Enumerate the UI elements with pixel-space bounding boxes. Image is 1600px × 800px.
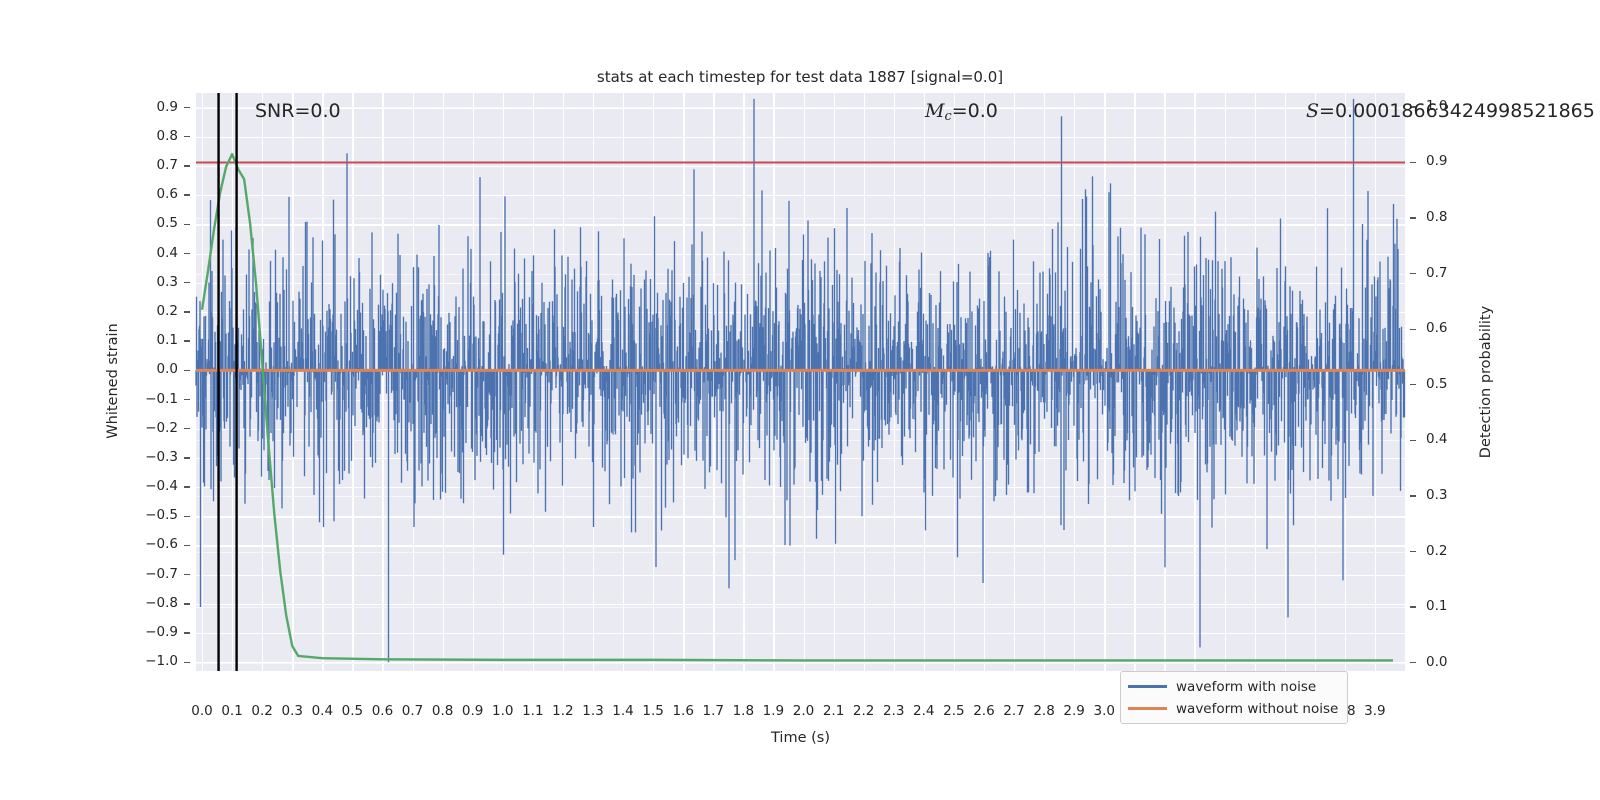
s-value: =0.00018663424998521865 (1319, 100, 1595, 122)
y-tick-mark-left (184, 662, 190, 663)
y-tick-mark-left (184, 282, 190, 283)
y-tick-label-left: 0.3 (130, 274, 178, 290)
y-tick-label-right: 0.6 (1426, 320, 1466, 336)
y-tick-mark-left (184, 165, 190, 166)
y-tick-mark-left (184, 311, 190, 312)
y-tick-mark-right (1410, 217, 1416, 218)
y-tick-mark-right (1410, 162, 1416, 163)
y-tick-mark-right (1410, 384, 1416, 385)
legend-label-waveform-with-noise: waveform with noise (1176, 679, 1316, 695)
y-tick-label-left: −0.4 (130, 478, 178, 494)
y-tick-label-left: −0.7 (130, 566, 178, 582)
legend-label-waveform-without-noise: waveform without noise (1176, 701, 1338, 717)
y-tick-label-left: 0.9 (130, 99, 178, 115)
y-tick-label-right: 0.5 (1426, 376, 1466, 392)
y-axis-left-label: Whitened strain (105, 91, 121, 671)
legend: waveform with noise waveform without noi… (1120, 671, 1348, 724)
y-tick-mark-right (1410, 329, 1416, 330)
legend-item: waveform with noise (1128, 677, 1338, 696)
chart-title: stats at each timestep for test data 188… (0, 68, 1600, 86)
y-tick-mark-left (184, 574, 190, 575)
y-tick-mark-left (184, 107, 190, 108)
x-axis-label: Time (s) (196, 730, 1405, 746)
y-tick-label-left: 0.5 (130, 215, 178, 231)
y-tick-mark-left (184, 457, 190, 458)
chart-figure: stats at each timestep for test data 188… (0, 0, 1600, 800)
y-tick-label-left: 0.1 (130, 332, 178, 348)
series-waveform-with-noise (196, 99, 1405, 662)
legend-swatch-waveform-with-noise (1128, 685, 1167, 688)
y-axis-right-label: Detection probability (1478, 93, 1494, 671)
y-tick-label-right: 0.7 (1426, 265, 1466, 281)
y-tick-label-left: −0.5 (130, 507, 178, 523)
mc-subscript: c (944, 109, 951, 124)
y-tick-mark-left (184, 428, 190, 429)
y-tick-mark-left (184, 253, 190, 254)
y-tick-label-left: 0.6 (130, 186, 178, 202)
y-tick-mark-right (1410, 606, 1416, 607)
y-tick-label-left: −0.8 (130, 595, 178, 611)
y-tick-mark-left (184, 632, 190, 633)
y-tick-label-right: 0.8 (1426, 209, 1466, 225)
y-tick-label-left: −0.6 (130, 536, 178, 552)
y-tick-mark-right (1410, 551, 1416, 552)
y-tick-mark-left (184, 603, 190, 604)
y-tick-label-left: 0.2 (130, 303, 178, 319)
mc-symbol: M (925, 100, 944, 122)
x-tick-label: 3.9 (1351, 703, 1399, 719)
y-tick-mark-left (184, 399, 190, 400)
y-tick-label-right: 0.9 (1426, 153, 1466, 169)
y-tick-label-left: 0.4 (130, 245, 178, 261)
annotation-statistic: S=0.00018663424998521865 (1306, 100, 1595, 122)
y-tick-mark-left (184, 370, 190, 371)
legend-item: waveform without noise (1128, 699, 1338, 718)
y-tick-mark-right (1410, 495, 1416, 496)
annotation-chirp-mass: Mc=0.0 (925, 100, 998, 124)
y-tick-mark-right (1410, 273, 1416, 274)
y-tick-label-right: 0.4 (1426, 431, 1466, 447)
plot-axes (196, 93, 1405, 671)
y-tick-mark-right (1410, 662, 1416, 663)
y-tick-mark-left (184, 486, 190, 487)
legend-swatch-waveform-without-noise (1128, 707, 1167, 710)
data-series-layer (196, 93, 1405, 671)
y-tick-mark-left (184, 545, 190, 546)
mc-value: =0.0 (952, 100, 998, 122)
y-tick-mark-right (1410, 440, 1416, 441)
y-tick-label-left: −0.2 (130, 420, 178, 436)
y-tick-label-left: 0.8 (130, 128, 178, 144)
y-tick-label-right: 0.3 (1426, 487, 1466, 503)
y-tick-mark-left (184, 224, 190, 225)
y-tick-mark-left (184, 194, 190, 195)
y-tick-label-left: 0.7 (130, 157, 178, 173)
y-tick-label-left: −1.0 (130, 653, 178, 669)
y-tick-label-right: 0.0 (1426, 654, 1466, 670)
y-tick-label-left: −0.9 (130, 624, 178, 640)
y-tick-mark-left (184, 136, 190, 137)
y-tick-label-left: −0.1 (130, 391, 178, 407)
y-tick-label-right: 0.2 (1426, 543, 1466, 559)
s-symbol: S (1306, 100, 1319, 122)
y-tick-label-left: 0.0 (130, 361, 178, 377)
y-tick-label-right: 0.1 (1426, 598, 1466, 614)
y-tick-mark-left (184, 340, 190, 341)
y-tick-mark-left (184, 516, 190, 517)
y-tick-label-left: −0.3 (130, 449, 178, 465)
annotation-snr: SNR=0.0 (255, 100, 341, 122)
